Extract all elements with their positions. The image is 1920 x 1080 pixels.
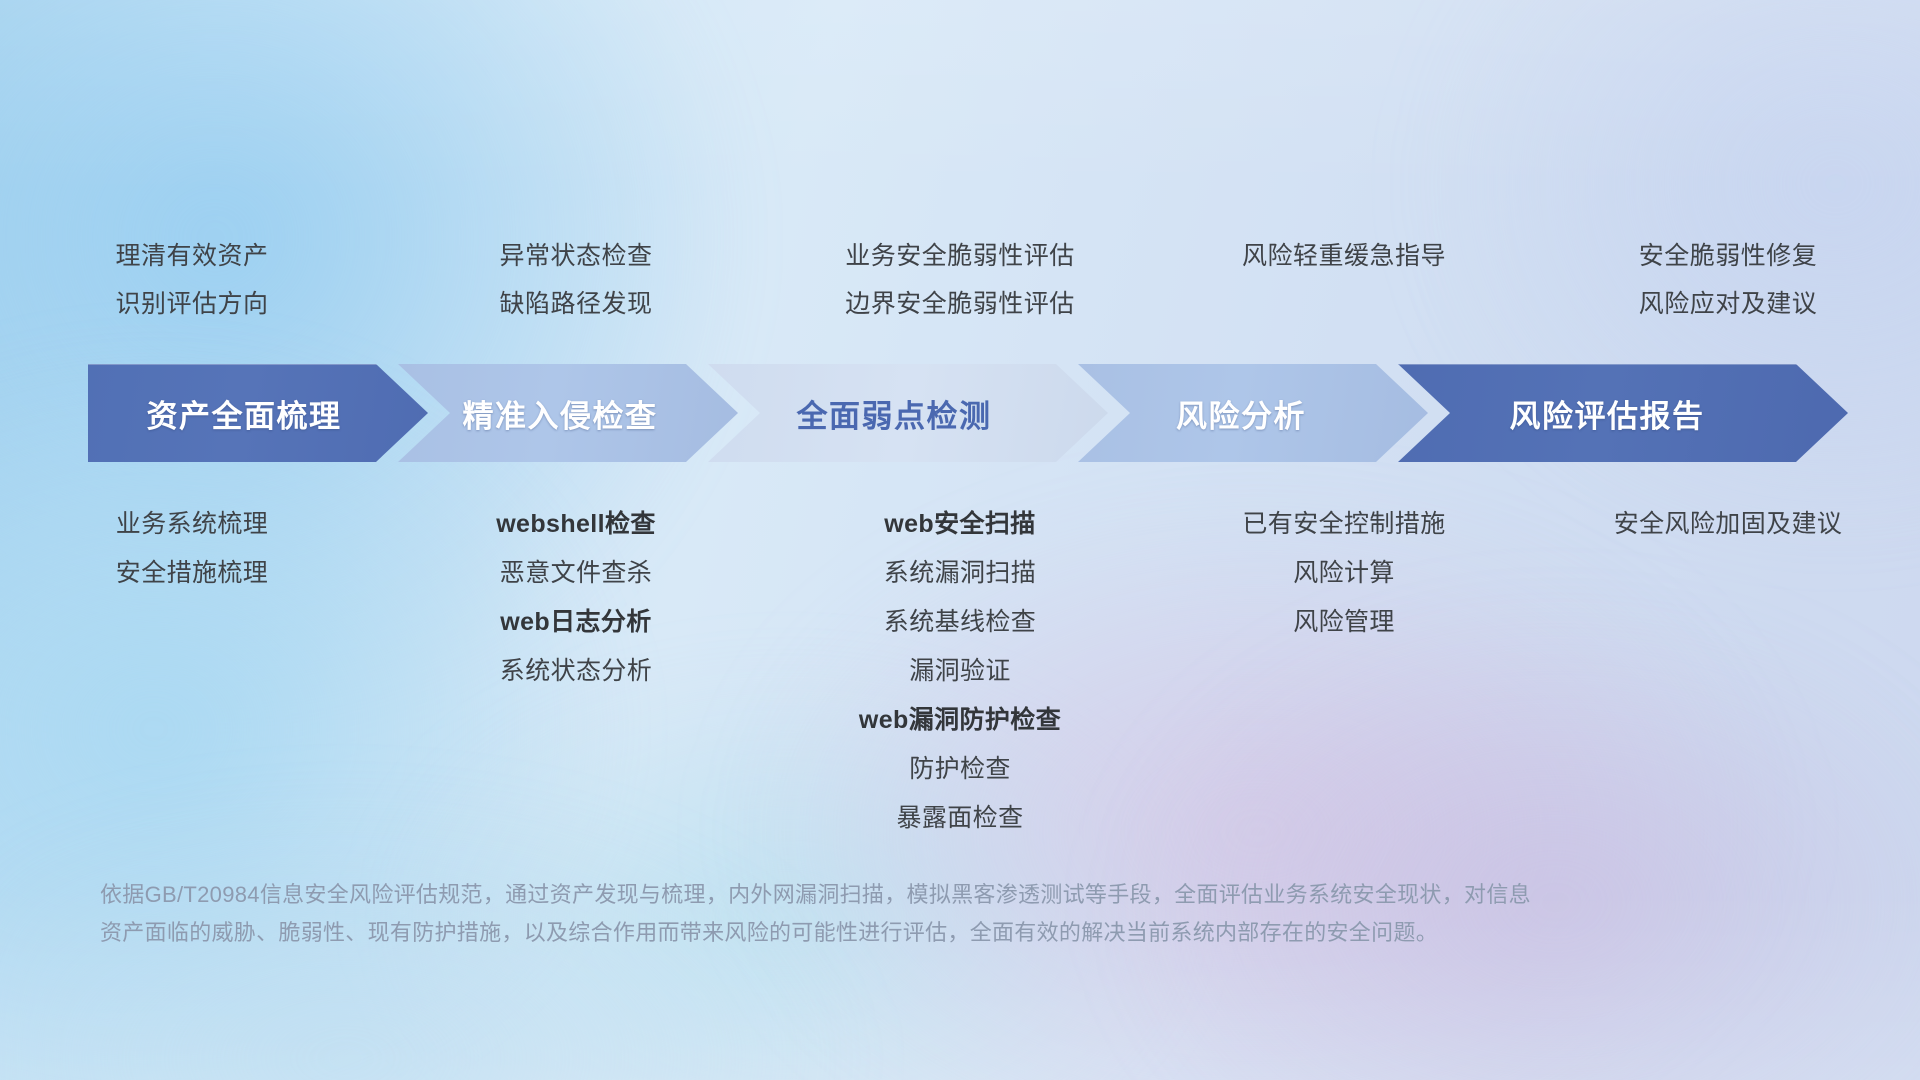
top-label-item: 边界安全脆弱性评估 <box>845 280 1075 328</box>
bottom-label-item: 已有安全控制措施 <box>1242 500 1445 549</box>
footer-paragraph: 依据GB/T20984信息安全风险评估规范，通过资产发现与梳理，内外网漏洞扫描，… <box>100 876 1660 952</box>
top-label-item: 异常状态检查 <box>499 232 652 280</box>
chevron-stage-3[interactable]: 全面弱点检测 <box>708 364 1108 462</box>
bottom-label-item: 系统基线检查 <box>884 598 1036 647</box>
process-diagram: 理清有效资产 识别评估方向 异常状态检查 缺陷路径发现 业务安全脆弱性评估 边界… <box>0 0 1920 1080</box>
bottom-labels-stage-2: webshell检查 恶意文件查杀 web日志分析 系统状态分析 <box>384 500 768 830</box>
bottom-label-item: 暴露面检查 <box>896 794 1023 843</box>
bottom-labels-stage-5: 安全风险加固及建议 <box>1536 500 1920 830</box>
bottom-label-item: 安全风险加固及建议 <box>1614 500 1843 549</box>
bottom-label-item: web安全扫描 <box>884 500 1035 549</box>
chevron-stage-5[interactable]: 风险评估报告 <box>1398 364 1848 462</box>
top-labels-row: 理清有效资产 识别评估方向 异常状态检查 缺陷路径发现 业务安全脆弱性评估 边界… <box>0 232 1920 342</box>
bottom-labels-row: 业务系统梳理 安全措施梳理 webshell检查 恶意文件查杀 web日志分析 … <box>0 500 1920 830</box>
top-label-item: 理清有效资产 <box>115 232 268 280</box>
bottom-labels-stage-4: 已有安全控制措施 风险计算 风险管理 <box>1152 500 1536 830</box>
stage-chevron-banner: 资产全面梳理 精准入侵检查 全面弱点检测 风险分析 风险评估报告 <box>88 364 1848 462</box>
bottom-label-item: 业务系统梳理 <box>116 500 268 549</box>
top-label-item: 缺陷路径发现 <box>499 280 652 328</box>
top-labels-stage-1: 理清有效资产 识别评估方向 <box>0 232 384 342</box>
bottom-label-item: 恶意文件查杀 <box>500 549 652 598</box>
top-label-item: 风险应对及建议 <box>1639 280 1818 328</box>
bottom-label-item: web漏洞防护检查 <box>859 696 1061 745</box>
bottom-label-item: 风险管理 <box>1293 598 1395 647</box>
chevron-stage-2[interactable]: 精准入侵检查 <box>398 364 738 462</box>
top-labels-stage-2: 异常状态检查 缺陷路径发现 <box>384 232 768 342</box>
top-label-item: 识别评估方向 <box>115 280 268 328</box>
bottom-label-item: 防护检查 <box>909 745 1011 794</box>
chevron-label: 风险评估报告 <box>1510 391 1705 436</box>
top-label-item: 业务安全脆弱性评估 <box>845 232 1075 280</box>
top-labels-stage-5: 安全脆弱性修复 风险应对及建议 <box>1536 232 1920 342</box>
chevron-stage-1[interactable]: 资产全面梳理 <box>88 364 428 462</box>
bottom-label-item: 漏洞验证 <box>909 647 1011 696</box>
chevron-label: 精准入侵检查 <box>463 391 658 436</box>
bottom-label-item: 系统状态分析 <box>500 647 652 696</box>
chevron-label: 风险分析 <box>1176 391 1306 436</box>
bottom-label-item: 系统漏洞扫描 <box>884 549 1036 598</box>
bottom-label-item: web日志分析 <box>500 598 651 647</box>
bottom-label-item: 安全措施梳理 <box>116 549 268 598</box>
top-label-item: 风险轻重缓急指导 <box>1242 232 1446 280</box>
bottom-labels-stage-3: web安全扫描 系统漏洞扫描 系统基线检查 漏洞验证 web漏洞防护检查 防护检… <box>768 500 1152 830</box>
chevron-stage-4[interactable]: 风险分析 <box>1078 364 1428 462</box>
chevron-label: 资产全面梳理 <box>147 391 342 436</box>
bottom-label-item: webshell检查 <box>496 500 656 549</box>
bottom-labels-stage-1: 业务系统梳理 安全措施梳理 <box>0 500 384 830</box>
top-labels-stage-4: 风险轻重缓急指导 <box>1152 232 1536 342</box>
footer-description: 依据GB/T20984信息安全风险评估规范，通过资产发现与梳理，内外网漏洞扫描，… <box>100 876 1660 952</box>
chevron-label: 全面弱点检测 <box>797 391 992 436</box>
bottom-label-item: 风险计算 <box>1293 549 1395 598</box>
top-label-item: 安全脆弱性修复 <box>1639 232 1818 280</box>
top-labels-stage-3: 业务安全脆弱性评估 边界安全脆弱性评估 <box>768 232 1152 342</box>
